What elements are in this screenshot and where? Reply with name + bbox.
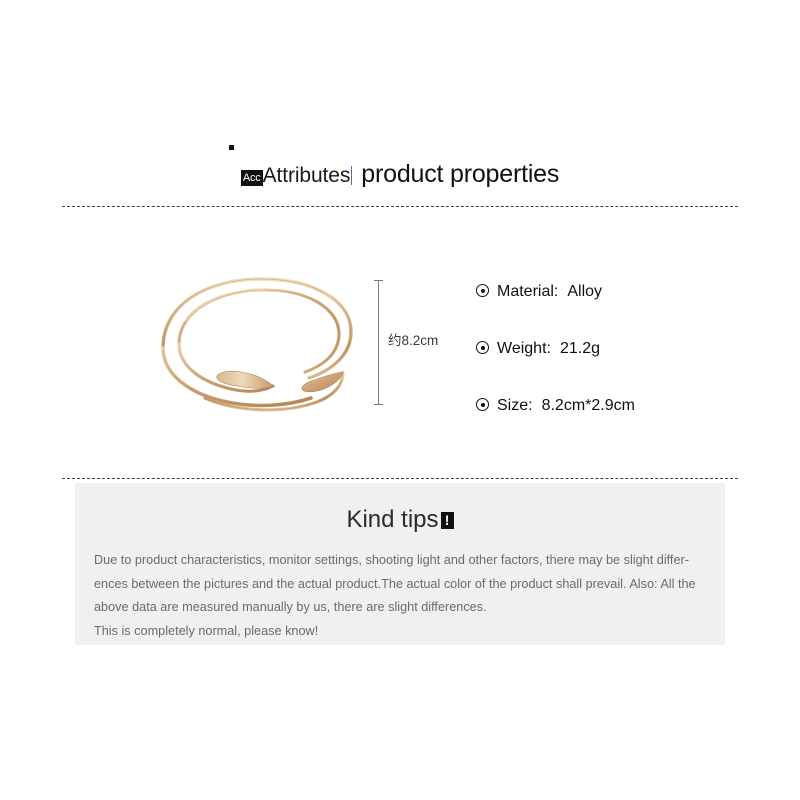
dimension-cap-top-icon xyxy=(374,280,383,281)
kind-tips-line: Due to product characteristics, monitor … xyxy=(94,549,708,573)
circled-dot-icon xyxy=(476,284,489,297)
section-header: Acc Attributes product properties xyxy=(0,150,800,198)
product-detail-page: Acc Attributes product properties xyxy=(0,0,800,800)
product-properties-list: Material: Alloy Weight: 21.2g Size: 8.2c… xyxy=(476,282,776,416)
property-label: Weight: xyxy=(497,339,551,359)
dimension-label: 约8.2cm xyxy=(388,332,438,350)
divider-bottom xyxy=(62,478,738,479)
dimension-cap-bottom-icon xyxy=(374,404,383,405)
kind-tips-line: above data are measured manually by us, … xyxy=(94,596,708,620)
property-label: Material: xyxy=(497,282,558,302)
property-label: Size: xyxy=(497,396,533,416)
kind-tips-panel: Kind tips! Due to product characteristic… xyxy=(75,483,725,645)
page-title-secondary: product properties xyxy=(361,159,559,189)
exclamation-badge-icon: ! xyxy=(441,512,454,529)
property-row-material: Material: Alloy xyxy=(476,282,776,302)
property-value: 21.2g xyxy=(560,339,600,359)
decorative-square-icon xyxy=(229,145,234,150)
dimension-indicator: 约8.2cm xyxy=(378,280,468,405)
product-showcase: 约8.2cm Material: Alloy Weight: 21.2g Siz… xyxy=(0,240,800,440)
property-row-size: Size: 8.2cm*2.9cm xyxy=(476,396,776,416)
circled-dot-icon xyxy=(476,341,489,354)
title-group: Acc Attributes product properties xyxy=(241,159,559,189)
property-row-weight: Weight: 21.2g xyxy=(476,339,776,359)
dimension-line-icon xyxy=(378,280,379,405)
kind-tips-line: ences between the pictures and the actua… xyxy=(94,573,708,597)
kind-tips-body: Due to product characteristics, monitor … xyxy=(94,549,708,643)
kind-tips-heading: Kind tips! xyxy=(75,505,725,535)
product-image xyxy=(145,262,370,422)
kind-tips-line: This is completely normal, please know! xyxy=(94,620,708,644)
property-value: 8.2cm*2.9cm xyxy=(542,396,635,416)
kind-tips-heading-text: Kind tips xyxy=(346,506,438,533)
circled-dot-icon xyxy=(476,398,489,411)
divider-top xyxy=(62,206,738,207)
property-value: Alloy xyxy=(567,282,602,302)
acc-badge: Acc xyxy=(241,170,263,186)
page-title-primary: Attributes xyxy=(263,163,351,189)
title-separator-icon xyxy=(351,166,352,185)
